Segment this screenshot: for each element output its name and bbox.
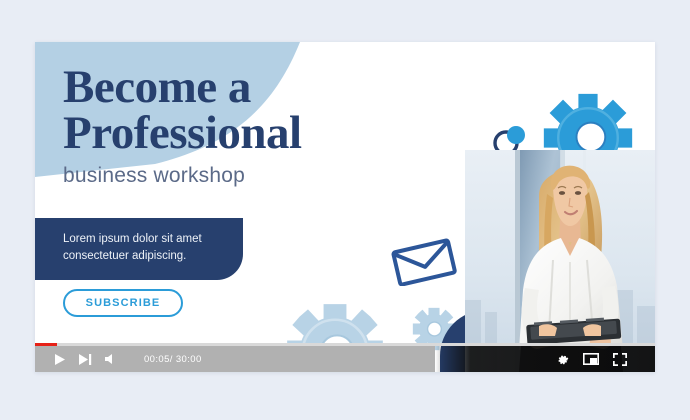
screenshot-canvas: Become a Professional business workshop … [0,0,690,420]
headline-line-1: Become a [63,64,483,110]
play-button[interactable] [53,353,66,366]
envelope-icon [391,238,457,291]
player-controls-right [435,346,655,372]
headline-group: Become a Professional business workshop [63,64,483,188]
headline-subtitle: business workshop [63,164,483,188]
photo-businesswoman [465,150,655,372]
volume-button[interactable] [104,353,118,365]
next-button[interactable] [78,353,92,366]
subscribe-button[interactable]: SUBSCRIBE [63,289,183,317]
video-thumbnail-card: Become a Professional business workshop … [35,42,655,372]
time-display: 00:05/ 30:00 [144,354,202,365]
fullscreen-button[interactable] [613,353,627,366]
caption-text: Lorem ipsum dolor sit amet consectetuer … [63,231,225,266]
miniplayer-button[interactable] [583,353,599,365]
player-controls-left: 00:05/ 30:00 [35,346,435,372]
subscribe-label: SUBSCRIBE [86,297,161,309]
settings-button[interactable] [556,353,569,366]
headline-line-2: Professional [63,110,483,156]
caption-box: Lorem ipsum dolor sit amet consectetuer … [35,218,243,280]
video-player-bar: 00:05/ 30:00 [35,343,655,372]
